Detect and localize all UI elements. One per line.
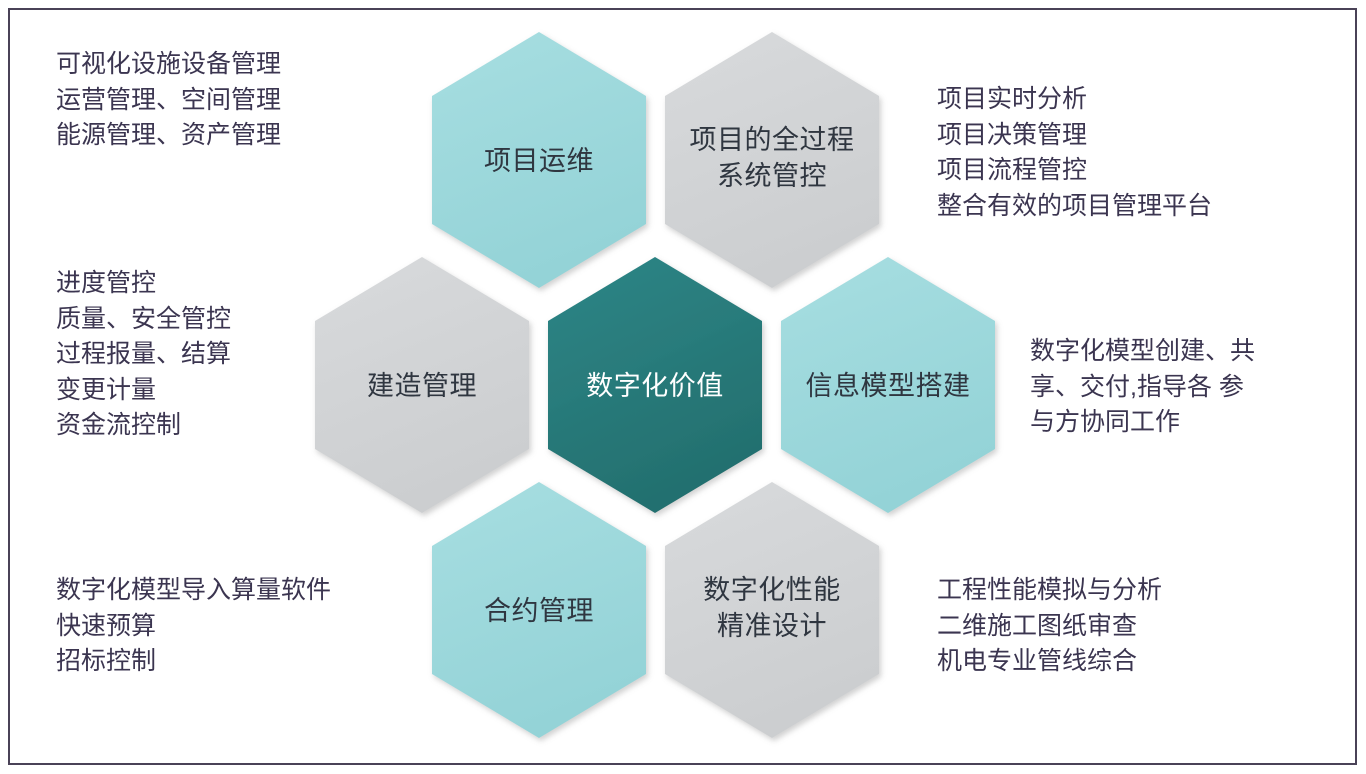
- slide-canvas: 项目运维 项目的全过程 系统管控 建造管理 数字化价值 信息模型搭建 合约管理 …: [0, 0, 1366, 774]
- annotation-top-right: 项目实时分析 项目决策管理 项目流程管控 整合有效的项目管理平台: [937, 82, 1337, 224]
- hexagon-digital-perf[interactable]: [665, 482, 879, 738]
- hexagon-project-ops[interactable]: [432, 32, 646, 288]
- annotation-bottom-right: 工程性能模拟与分析 二维施工图纸审查 机电专业管线综合: [937, 573, 1267, 680]
- hexagon-contract-mgmt[interactable]: [432, 482, 646, 738]
- annotation-top-left: 可视化设施设备管理 运营管理、空间管理 能源管理、资产管理: [56, 47, 396, 154]
- hexagon-center-value[interactable]: [548, 257, 762, 513]
- annotation-bottom-left: 数字化模型导入算量软件 快速预算 招标控制: [56, 573, 416, 680]
- annotation-middle-right: 数字化模型创建、共 享、交付,指导各 参 与方协同工作: [1030, 334, 1330, 441]
- hexagon-full-process[interactable]: [665, 32, 879, 288]
- annotation-middle-left: 进度管控 质量、安全管控 过程报量、结算 变更计量 资金流控制: [56, 266, 356, 444]
- hexagon-info-model[interactable]: [781, 257, 995, 513]
